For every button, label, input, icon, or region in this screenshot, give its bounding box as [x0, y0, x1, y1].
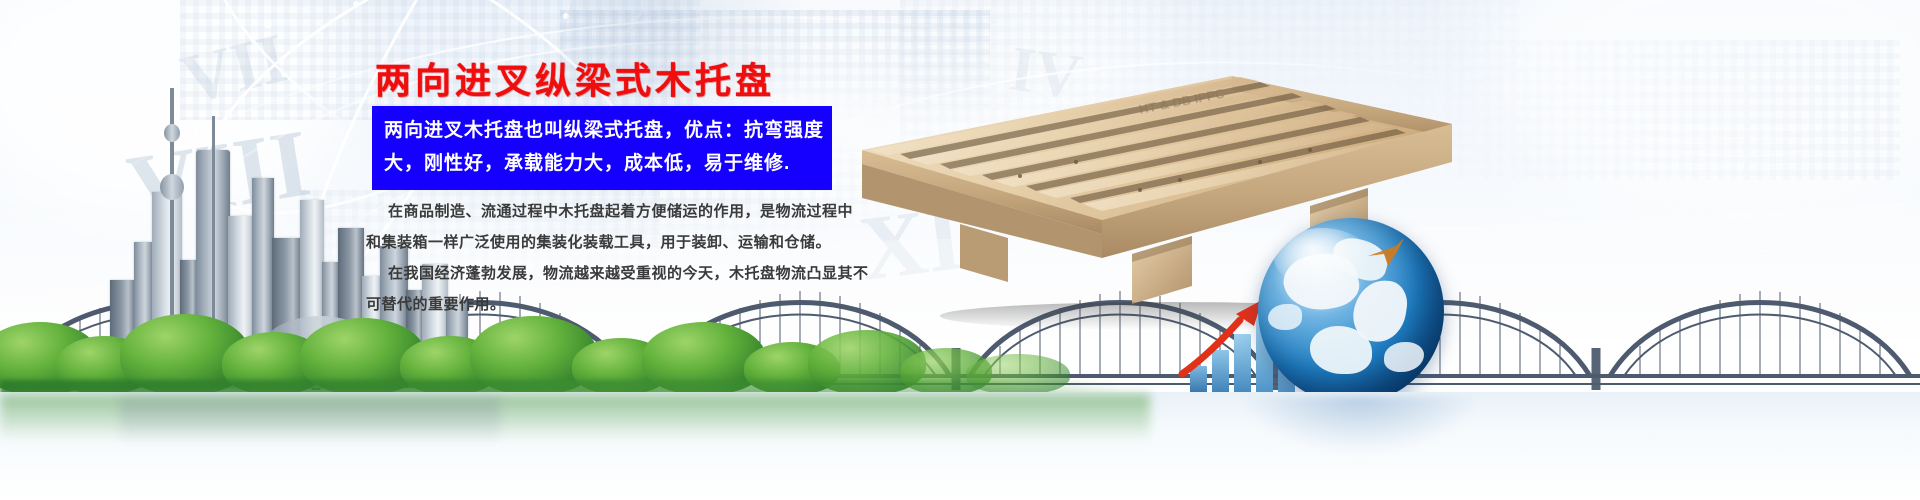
promo-banner: VIII VII XI IV [0, 0, 1920, 500]
paragraph-line-1: 在商品制造、流通过程中木托盘起着方便储运的作用，是物流过程中 [366, 196, 866, 227]
city-reflection [120, 398, 500, 444]
roman-numeral-watermark: VII [174, 18, 295, 121]
highlight-line-2: 大，刚性好，承载能力大，成本低，易于维修. [384, 147, 822, 180]
haze-blob [1480, 0, 1920, 210]
paragraph-line-3: 在我国经济蓬勃发展，物流越来越受重视的今天，木托盘物流凸显其不 [366, 258, 866, 289]
banner-title: 两向进叉纵梁式木托盘 [375, 52, 845, 104]
globe-reflection [1240, 396, 1480, 454]
airplane-icon [1366, 236, 1408, 268]
highlight-line-1: 两向进叉木托盘也叫纵梁式托盘，优点：抗弯强度 [384, 114, 822, 147]
paragraph-line-2: 和集装箱一样广泛使用的集装化装载工具，用于装卸、运输和仓储。 [366, 227, 866, 258]
blue-earth-globe [1258, 218, 1444, 404]
highlight-callout-box: 两向进叉木托盘也叫纵梁式托盘，优点：抗弯强度 大，刚性好，承载能力大，成本低，易… [372, 106, 832, 190]
banner-paragraph: 在商品制造、流通过程中木托盘起着方便储运的作用，是物流过程中 和集装箱一样广泛使… [366, 196, 866, 320]
paragraph-line-4: 可替代的重要作用。 [366, 289, 866, 320]
